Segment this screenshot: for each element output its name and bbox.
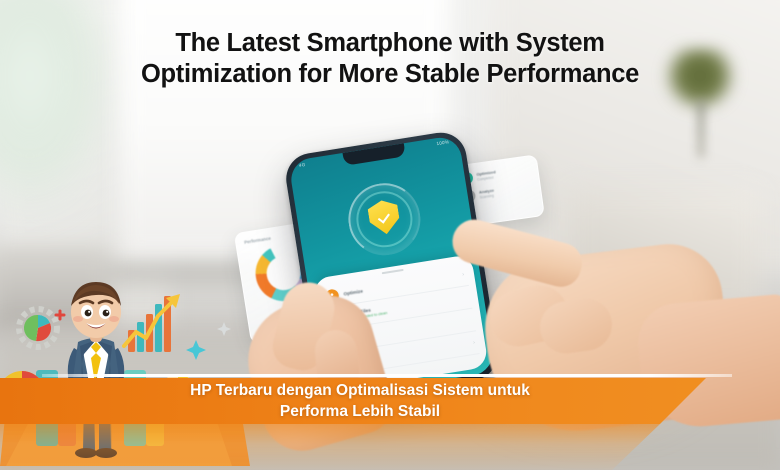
- phone-notch: [343, 143, 406, 166]
- chevron-right-icon: ›: [462, 272, 465, 278]
- status-bar-right: 100%: [436, 139, 449, 146]
- chevron-right-icon: ›: [473, 340, 476, 346]
- promo-image: The Latest Smartphone with System Optimi…: [0, 0, 780, 470]
- mascot-illustration: [0, 270, 255, 470]
- pie-chart-decor-left: [0, 371, 46, 419]
- status-bar-left: 4G: [299, 162, 306, 168]
- plant-stem: [698, 100, 704, 158]
- page-title: The Latest Smartphone with System Optimi…: [0, 28, 780, 90]
- headline-line-2: Optimization for More Stable Performance: [0, 59, 780, 90]
- gear-icon: [19, 309, 57, 347]
- headline-line-1: The Latest Smartphone with System: [0, 28, 780, 59]
- pie-chart-decor-right: [160, 374, 196, 410]
